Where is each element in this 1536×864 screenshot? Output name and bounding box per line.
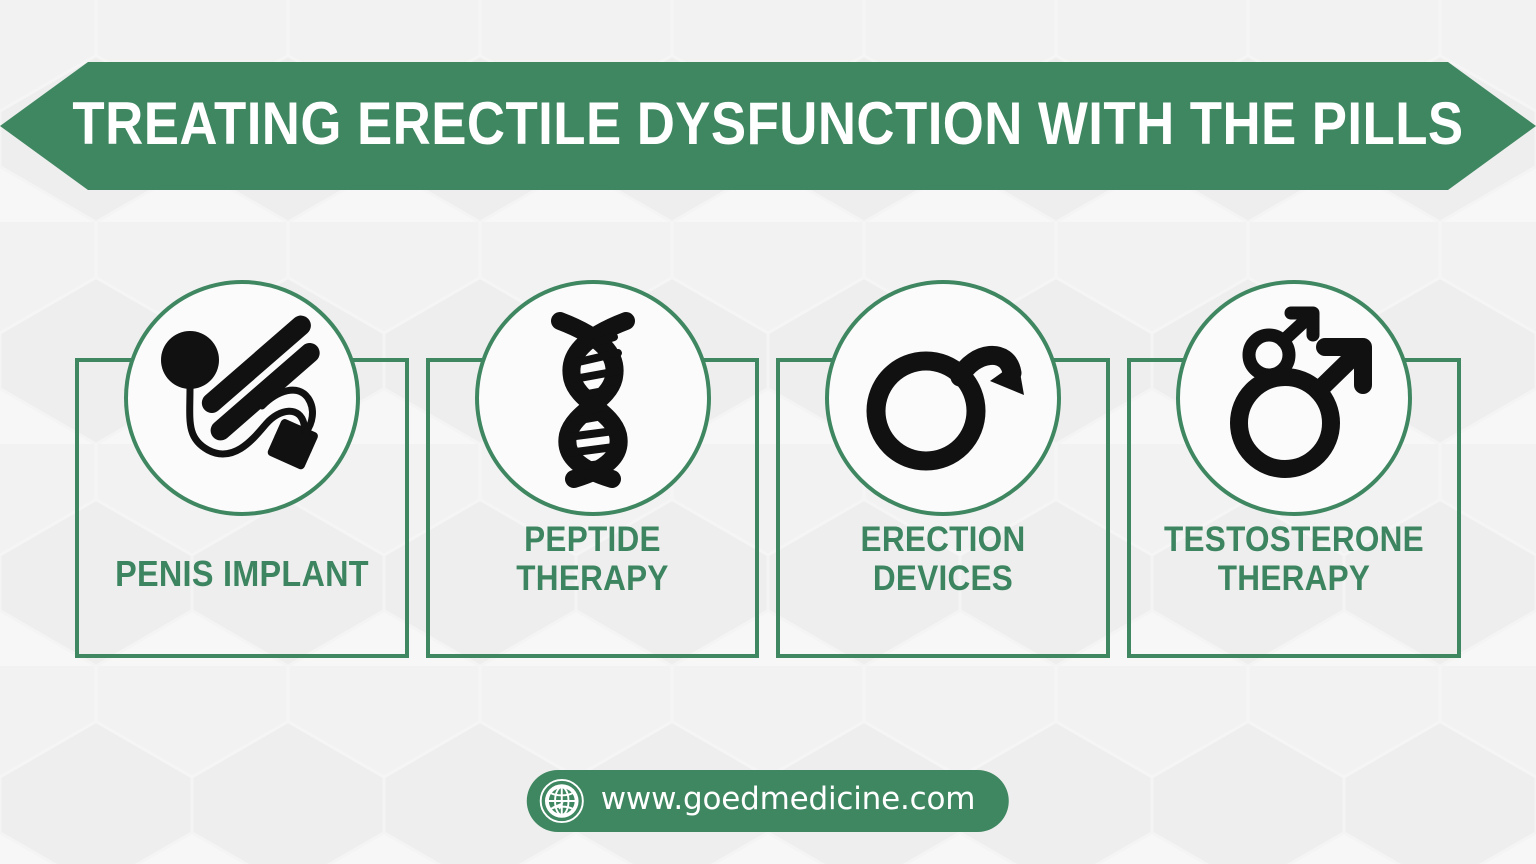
penis-implant-icon [124, 280, 360, 516]
dna-helix-icon [475, 280, 711, 516]
card-label: ERECTION DEVICES [796, 520, 1089, 654]
treatment-cards-row: PENIS IMPLANT [75, 358, 1461, 658]
infographic-canvas: TREATING ERECTILE DYSFUNCTION WITH THE P… [0, 0, 1536, 864]
website-url-text: www.goedmedicine.com [601, 784, 975, 818]
card-peptide-therapy[interactable]: PEPTIDE THERAPY [426, 358, 759, 658]
card-penis-implant[interactable]: PENIS IMPLANT [75, 358, 409, 658]
card-testosterone-therapy[interactable]: TESTOSTERONE THERAPY [1127, 358, 1461, 658]
card-label: PEPTIDE THERAPY [446, 520, 739, 654]
card-label: TESTOSTERONE THERAPY [1147, 520, 1440, 654]
header-banner: TREATING ERECTILE DYSFUNCTION WITH THE P… [0, 62, 1536, 190]
website-url-pill[interactable]: www.goedmedicine.com [527, 770, 1009, 832]
male-symbol-arrow-icon [825, 280, 1061, 516]
card-label: PENIS IMPLANT [95, 554, 388, 654]
double-male-symbol-icon [1176, 280, 1412, 516]
page-title: TREATING ERECTILE DYSFUNCTION WITH THE P… [92, 62, 1444, 190]
card-erection-devices[interactable]: ERECTION DEVICES [776, 358, 1110, 658]
globe-icon [539, 778, 585, 824]
